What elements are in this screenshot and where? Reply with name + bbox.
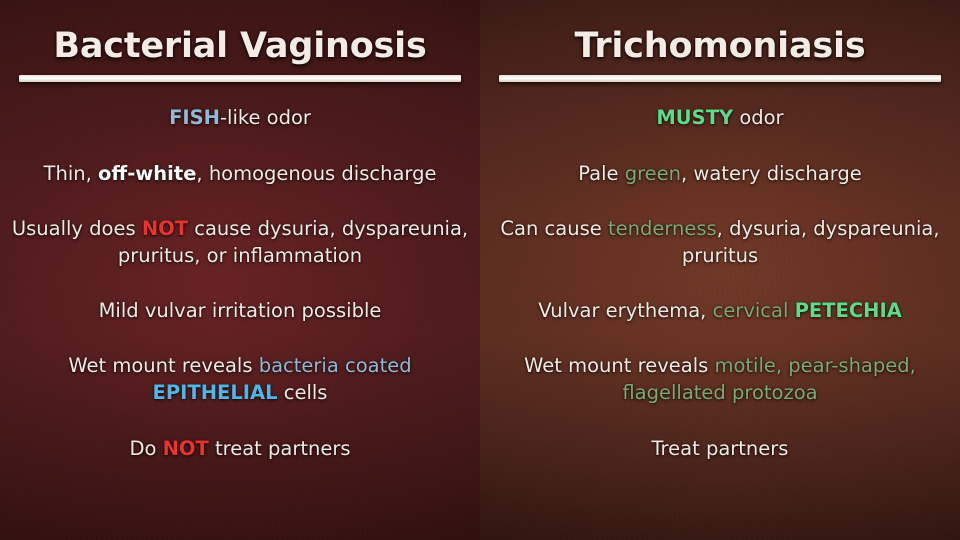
fact-row-right-symptoms: Can cause tenderness, dysuria, dyspareun… xyxy=(491,215,949,269)
title-underline-right xyxy=(499,75,941,82)
body-text: , homogenous discharge xyxy=(196,162,436,185)
highlight-text: FISH xyxy=(169,106,220,129)
body-text: Mild vulvar irritation possible xyxy=(99,299,382,322)
title-underline-left xyxy=(19,75,461,82)
fact-row-right-partners: Treat partners xyxy=(491,435,949,462)
highlight-text: bacteria coated xyxy=(259,354,412,377)
body-text: , dysuria, dyspareunia, pruritus xyxy=(682,217,940,267)
body-text: odor xyxy=(733,106,783,129)
fact-row-left-odor: FISH-like odor xyxy=(11,104,469,131)
page-title-right: Trichomoniasis xyxy=(575,0,866,66)
fact-row-right-discharge: Pale green, watery discharge xyxy=(491,160,949,187)
body-text: Can cause xyxy=(500,217,608,240)
fact-row-right-odor: MUSTY odor xyxy=(491,104,949,131)
page-title-left: Bacterial Vaginosis xyxy=(53,0,426,66)
highlight-text: NOT xyxy=(142,217,188,240)
highlight-text: tenderness xyxy=(608,217,717,240)
body-text: Pale xyxy=(578,162,624,185)
comparison-infographic: Bacterial Vaginosis FISH-like odorThin, … xyxy=(0,0,960,540)
highlight-text: NOT xyxy=(163,437,209,460)
row-list-left: FISH-like odorThin, off-white, homogenou… xyxy=(0,82,480,540)
body-text: , watery discharge xyxy=(681,162,862,185)
highlight-text: green xyxy=(625,162,681,185)
body-text: -like odor xyxy=(220,106,311,129)
body-text: Do xyxy=(129,437,162,460)
panel-bacterial-vaginosis: Bacterial Vaginosis FISH-like odorThin, … xyxy=(0,0,480,540)
fact-row-left-wet-mount: Wet mount reveals bacteria coated EPITHE… xyxy=(11,352,469,406)
body-text: Wet mount reveals xyxy=(524,354,714,377)
body-text: treat partners xyxy=(209,437,351,460)
body-text: cells xyxy=(278,381,328,404)
fact-row-left-discharge: Thin, off-white, homogenous discharge xyxy=(11,160,469,187)
fact-row-left-irritation: Mild vulvar irritation possible xyxy=(11,297,469,324)
row-list-right: MUSTY odorPale green, watery dischargeCa… xyxy=(480,82,960,540)
highlight-text: cervical xyxy=(713,299,789,322)
highlight-text: PETECHIA xyxy=(795,299,902,322)
fact-row-right-wet-mount: Wet mount reveals motile, pear-shaped, f… xyxy=(491,352,949,406)
highlight-text: off-white xyxy=(98,162,196,185)
fact-row-right-irritation: Vulvar erythema, cervical PETECHIA xyxy=(491,297,949,324)
body-text: Treat partners xyxy=(652,437,789,460)
fact-row-left-symptoms: Usually does NOT cause dysuria, dyspareu… xyxy=(11,215,469,269)
panel-trichomoniasis: Trichomoniasis MUSTY odorPale green, wat… xyxy=(480,0,960,540)
highlight-text: MUSTY xyxy=(656,106,733,129)
body-text: Thin, xyxy=(44,162,98,185)
body-text: Wet mount reveals xyxy=(68,354,258,377)
highlight-text: EPITHELIAL xyxy=(153,381,278,404)
fact-row-left-partners: Do NOT treat partners xyxy=(11,435,469,462)
body-text: Usually does xyxy=(12,217,142,240)
body-text: Vulvar erythema, xyxy=(538,299,712,322)
